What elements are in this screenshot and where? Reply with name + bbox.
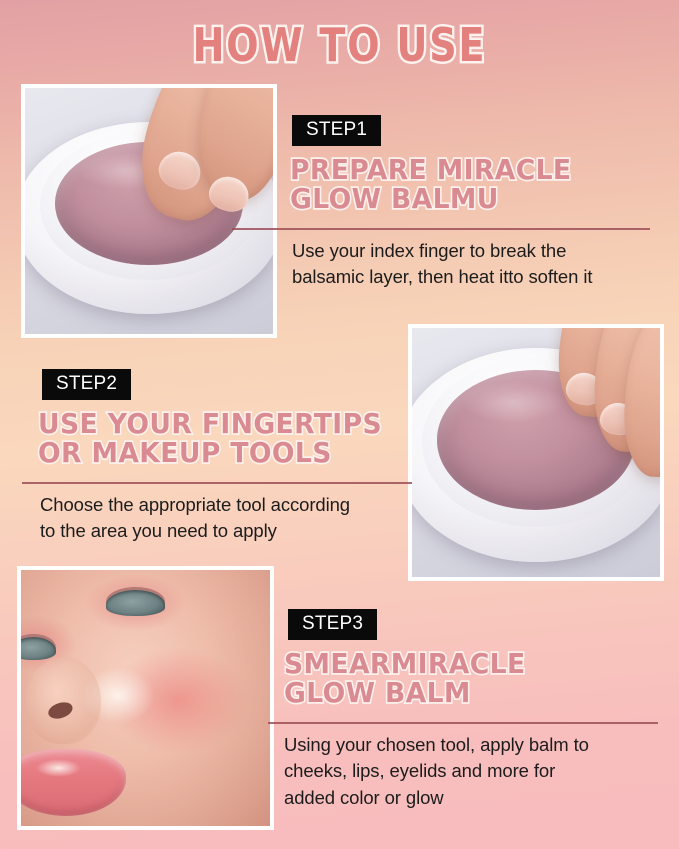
- step-1-photo: [21, 84, 277, 338]
- step-3-photo-image: [21, 570, 270, 826]
- step-3-heading: SMEARMIRACLE GLOW BALM: [284, 650, 655, 708]
- eye-right-shape: [106, 590, 166, 616]
- page-title: HOW TO USE: [27, 22, 652, 68]
- nose-shape: [26, 657, 101, 744]
- step-1-badge: STEP1: [292, 115, 381, 146]
- step-2-heading: USE YOUR FINGERTIPS OR MAKEUP TOOLS: [38, 410, 418, 468]
- step-1-body-text: Use your index finger to break the balsa…: [292, 238, 652, 291]
- step-3-body-text: Using your chosen tool, apply balm to ch…: [284, 732, 664, 811]
- step-2-badge: STEP2: [42, 369, 131, 400]
- step-3-connector-line: [268, 722, 658, 724]
- step-1-photo-image: [25, 88, 273, 334]
- step-3-photo: [17, 566, 274, 830]
- step-2-photo-image: [412, 328, 660, 577]
- step-3-badge: STEP3: [288, 609, 377, 640]
- step-2-photo: [408, 324, 664, 581]
- step-2-connector-line: [22, 482, 412, 484]
- how-to-use-infographic: HOW TO USE STEP1 PREPARE MIRACLE GLOW BA…: [0, 0, 679, 849]
- step-1-connector-line: [232, 228, 650, 230]
- step-2-body-text: Choose the appropriate tool according to…: [40, 492, 410, 545]
- step-1-heading: PREPARE MIRACLE GLOW BALMU: [290, 156, 651, 214]
